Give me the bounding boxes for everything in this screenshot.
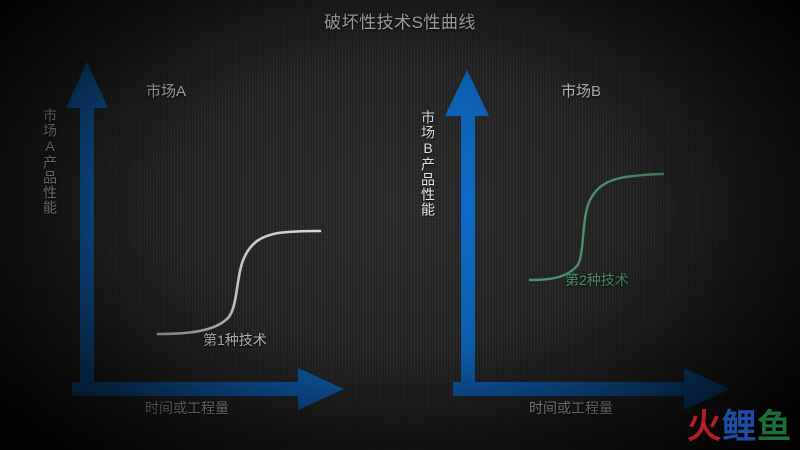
chart-a-y-axis-label: 市场A产品性能 <box>40 108 60 215</box>
y-axis-arrow <box>445 70 489 390</box>
curve-label-technology-2: 第2种技术 <box>565 270 629 290</box>
chart-b-axes-svg <box>385 0 800 450</box>
watermark-char-2: 鲤 <box>722 408 757 446</box>
curve-technology-1 <box>158 231 320 334</box>
chart-b-y-axis-label: 市场B产品性能 <box>418 110 438 217</box>
curve-label-technology-1: 第1种技术 <box>203 330 267 350</box>
watermark-logo: 火鲤鱼 <box>687 410 792 444</box>
y-axis-arrow <box>66 62 108 390</box>
chart-market-b: 市场B 市场B产品性能 时间或工程量 第2种技术 <box>385 0 785 450</box>
watermark-char-1: 火 <box>687 408 722 446</box>
chart-a-title: 市场A <box>146 80 186 101</box>
curve-technology-2 <box>530 174 663 280</box>
chart-a-x-axis-label: 时间或工程量 <box>145 398 229 418</box>
chart-b-x-axis-label: 时间或工程量 <box>529 398 613 418</box>
watermark-char-3: 鱼 <box>757 408 792 446</box>
chart-b-title: 市场B <box>561 80 601 101</box>
chart-market-a: 市场A 市场A产品性能 时间或工程量 第1种技术 <box>0 0 400 450</box>
chart-a-axes-svg <box>0 0 400 450</box>
slide-canvas: 破坏性技术S性曲线 市场A 市场A产品性能 时间或工程量 第1种技术 <box>0 0 800 450</box>
